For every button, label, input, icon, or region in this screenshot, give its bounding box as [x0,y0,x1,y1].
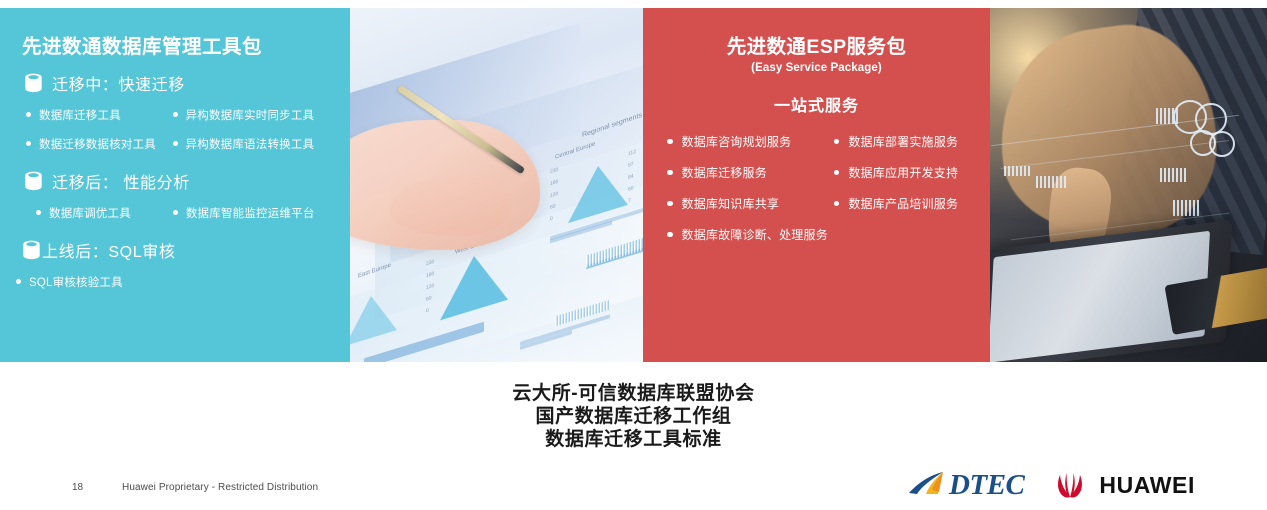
bullet-item: 数据库部署实施服务 [826,133,972,150]
bullet-item: 数据库智能监控运维平台 [173,205,338,221]
bullet-row: SQL审核核验工具 [16,268,338,295]
database-icon [24,171,43,192]
hud-chart [1036,176,1066,188]
huawei-wordmark: HUAWEI [1099,474,1195,497]
huawei-logo: HUAWEI [1050,470,1195,500]
bullet-dot-icon [173,112,178,117]
dtec-wordmark: DTEC [949,471,1024,500]
bullet-dot-icon [834,170,840,176]
bullet-dot-icon [667,170,673,176]
logo-group: DTEC HUAWEI [908,470,1195,500]
huawei-flower-icon [1050,470,1090,500]
charts-photo: Regional segments Central Europe West Eu… [350,8,645,362]
red-panel-subtitle: (Easy Service Package) [653,62,980,74]
bullet-dot-icon [667,232,673,238]
bullet-row: 数据库故障诊断、处理服务 [661,219,972,250]
bullet-dot-icon [16,279,21,284]
bullet-dot-icon [667,139,673,145]
teal-section-heading-1: 迁移中：快速迁移 [24,71,338,95]
bullet-item: 数据库迁移服务 [661,164,826,181]
hud-chart [1160,168,1186,182]
page-number: 18 [72,482,83,493]
teal-panel-title: 先进数通数据库管理工具包 [22,30,338,59]
bullet-dot-icon [26,112,31,117]
teal-section-heading-3: 上线后：SQL审核 [22,238,338,262]
bullet-row: 数据库咨询规划服务 数据库部署实施服务 [661,126,972,157]
red-panel-tagline: 一站式服务 [653,92,980,116]
caption-line-3: 数据库迁移工具标准 [0,428,1267,451]
teal-section-label: 迁移中：快速迁移 [52,71,185,95]
bullet-item: 数据库知识库共享 [661,195,826,212]
bullet-item: 异构数据库语法转换工具 [173,136,338,152]
bullet-item: 数据库调优工具 [16,205,173,221]
bullet-dot-icon [26,141,31,146]
caption-line-2: 国产数据库迁移工作组 [0,405,1267,428]
bullet-dot-icon [173,210,178,215]
caption-block: 云大所-可信数据库联盟协会 国产数据库迁移工作组 数据库迁移工具标准 [0,382,1267,451]
bullet-dot-icon [36,210,41,215]
hud-chart [1173,200,1201,216]
bullet-item: 异构数据库实时同步工具 [173,107,338,123]
teal-section-heading-2: 迁移后： 性能分析 [24,169,338,193]
hud-ring-icon [1209,131,1235,157]
bullet-item: 数据库产品培训服务 [826,195,972,212]
bullet-item: 数据库应用开发支持 [826,164,972,181]
bullet-dot-icon [173,141,178,146]
bullet-row: 数据库迁移服务 数据库应用开发支持 [661,157,972,188]
dtec-arrow-icon [908,470,948,500]
caption-line-1: 云大所-可信数据库联盟协会 [0,382,1267,405]
red-panel-title: 先进数通ESP服务包 [653,30,980,59]
bullet-dot-icon [834,139,840,145]
red-panel: 先进数通ESP服务包 (Easy Service Package) 一站式服务 … [643,8,990,362]
confidentiality-note: Huawei Proprietary - Restricted Distribu… [122,482,318,493]
teal-bullet-group-2: 数据库调优工具 数据库智能监控运维平台 [16,199,338,226]
red-bullet-group: 数据库咨询规划服务 数据库部署实施服务 数据库迁移服务 数据库应用开发支持 [653,126,980,250]
bullet-row: 数据库知识库共享 数据库产品培训服务 [661,188,972,219]
bullet-item: SQL审核核验工具 [16,274,181,290]
teal-section-label: 迁移后： 性能分析 [52,169,190,193]
hand-shape [390,176,510,236]
bullet-item: 数据库咨询规划服务 [661,133,826,150]
bullet-dot-icon [667,201,673,207]
teal-panel: 先进数通数据库管理工具包 迁移中：快速迁移 数据库迁移工具 异构数据库实时同步工… [0,8,350,362]
banner-strip: Regional segments Central Europe West Eu… [0,8,1267,362]
teal-bullet-group-3: SQL审核核验工具 [16,268,338,295]
dtec-logo: DTEC [908,470,1024,500]
bullet-row: 数据库迁移工具 异构数据库实时同步工具 [16,101,338,128]
bullet-dot-icon [834,201,840,207]
bullet-item: 数据迁移数据核对工具 [16,136,173,152]
bullet-row: 数据迁移数据核对工具 异构数据库语法转换工具 [16,130,338,157]
tablet-photo [990,8,1267,362]
database-icon [24,73,43,94]
teal-section-label: 上线后：SQL审核 [42,238,175,262]
teal-bullet-group-1: 数据库迁移工具 异构数据库实时同步工具 数据迁移数据核对工具 异构数据库语法转换… [16,101,338,157]
bullet-row: 数据库调优工具 数据库智能监控运维平台 [16,199,338,226]
bullet-item: 数据库故障诊断、处理服务 [661,226,972,243]
database-icon [22,240,41,261]
bullet-item: 数据库迁移工具 [16,107,173,123]
